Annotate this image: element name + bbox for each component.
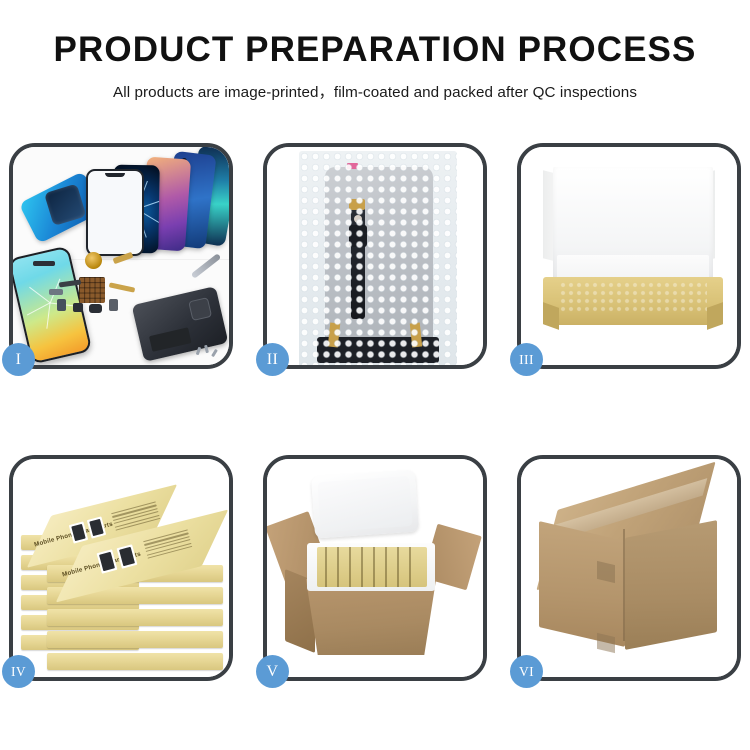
small-component-b	[73, 303, 83, 312]
carton-corner-seam	[623, 529, 625, 641]
product-screens-and-parts-photo	[13, 147, 229, 365]
page-subtitle: All products are image-printed，film-coat…	[0, 80, 750, 102]
process-step-panel-4: Mobile Phone Spare Parts Mobile Phone Sp…	[9, 455, 233, 681]
kraft-tray	[543, 277, 723, 325]
carton-flap-tab-lower	[597, 633, 615, 653]
step-badge-5: V	[256, 655, 289, 688]
bubble-wrap-bag	[299, 151, 457, 365]
carton-right-face	[625, 520, 717, 650]
process-step-panel-2: II	[263, 143, 487, 369]
page-title: PRODUCT PREPARATION PROCESS	[0, 32, 750, 69]
kraft-tray-box-open-photo	[521, 147, 737, 365]
carton-left-face	[539, 521, 625, 647]
bubble-wrapped-screen-photo	[267, 147, 483, 365]
process-step-panel-6: VI	[517, 455, 741, 681]
step-badge-3: III	[510, 343, 543, 376]
bubble-wrapped-contents	[559, 281, 707, 313]
carton-with-foam-liner-photo	[267, 459, 483, 677]
tray-corner-left	[543, 302, 559, 330]
step-badge-1: I	[2, 343, 35, 376]
speaker-coil-part	[85, 252, 102, 269]
process-step-panel-1: I	[9, 143, 233, 369]
stacked-retail-boxes-photo: Mobile Phone Spare Parts Mobile Phone Sp…	[13, 459, 229, 677]
process-step-panel-3: III	[517, 143, 741, 369]
step-badge-2: II	[256, 343, 289, 376]
phone-front-glass	[86, 169, 144, 256]
process-step-grid: I II	[9, 143, 741, 681]
small-component-e	[49, 289, 63, 295]
yellow-boxes-inside	[317, 547, 427, 587]
process-step-panel-5: V	[263, 455, 487, 681]
small-component-d	[109, 299, 118, 311]
repair-tweezers	[191, 253, 221, 279]
tray-corner-right	[707, 302, 723, 330]
earpiece-mesh-part	[33, 261, 55, 266]
step-badge-6: VI	[510, 655, 543, 688]
screws-group	[197, 345, 221, 359]
foam-lid	[311, 469, 419, 538]
ic-chip-grid-part	[79, 277, 105, 303]
carton-flap-tab-upper	[597, 561, 615, 583]
bubble-texture	[299, 151, 457, 365]
flex-cable-part-b	[109, 282, 135, 292]
small-component-a	[57, 299, 66, 311]
sealed-shipping-carton-photo	[521, 459, 737, 677]
header: PRODUCT PREPARATION PROCESS All products…	[0, 0, 750, 102]
step-badge-4: IV	[2, 655, 35, 688]
small-component-c	[89, 304, 102, 313]
